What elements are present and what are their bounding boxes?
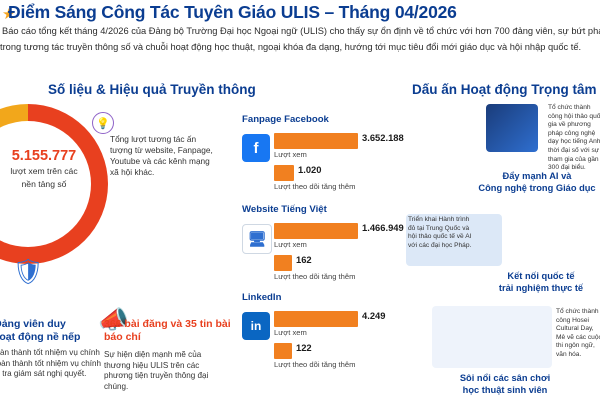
value-website-views: 1.466.949 (362, 222, 404, 233)
left-item-2-title: 366 bài đăng và 35 tin bài báo chí (104, 318, 234, 344)
right-card-2-text: Triển khai Hành trình đỏ tại Trung Quốc … (408, 216, 474, 250)
right-card-3-caption: Sôi nổi các sân chơi học thuật sinh viên (430, 372, 580, 396)
shield-icon: 🛡 (6, 250, 50, 294)
donut-caption-2: nền tảng số (0, 179, 96, 190)
donut-chart: 5.155.777 lượt xem trên các nền tảng số (0, 104, 108, 264)
right-card-2-caption: Kết nối quốc tế trải nghiệm thực tế (474, 270, 600, 294)
chart-block-website: Website Tiếng Việt 🖥 1.466.949 Lượt xem … (242, 204, 422, 282)
label-facebook-followers: Lượt theo dõi tăng thêm (274, 182, 355, 191)
bar-linkedin-views (274, 311, 358, 327)
donut-caption-1: lượt xem trên các (0, 166, 96, 177)
chart-title-website: Website Tiếng Việt (242, 204, 422, 215)
bar-facebook-followers (274, 165, 294, 181)
value-linkedin-followers: 122 (296, 342, 312, 353)
right-card-3-caption-line1: Sôi nổi các sân chơi (460, 373, 550, 383)
right-card-2-caption-line2: trải nghiệm thực tế (499, 283, 583, 293)
donut-center-text: 5.155.777 lượt xem trên các nền tảng số (0, 148, 96, 189)
bar-website-followers (274, 255, 292, 271)
donut-note: Tổng lượt tương tác ấn tượng từ website,… (110, 134, 214, 178)
value-facebook-views: 3.652.188 (362, 132, 404, 143)
value-facebook-followers: 1.020 (298, 164, 321, 175)
right-card-1-text: Tổ chức thành công hội thảo quốc gia về … (548, 104, 600, 173)
subtitle-line-2: trong tương tác truyền thông số và chuỗi… (0, 42, 600, 52)
bar-facebook-views (274, 133, 358, 149)
left-item-2-body: Sự hiện diện mạnh mẽ của thương hiệu ULI… (104, 350, 226, 392)
lightbulb-icon: 💡 (92, 112, 114, 134)
subtitle-line-1: Báo cáo tổng kết tháng 4/2026 của Đảng b… (2, 26, 600, 36)
left-item-1-title-line1: Đảng viên duy (0, 318, 66, 330)
chart-title-facebook: Fanpage Facebook (242, 114, 422, 125)
infographic-page: ★ Điểm Sáng Công Tác Tuyên Giáo ULIS – T… (0, 0, 600, 400)
right-card-1-caption-line2: Công nghệ trong Giáo dục (478, 183, 595, 193)
ai-brain-illustration (486, 104, 538, 152)
label-linkedin-followers: Lượt theo dõi tăng thêm (274, 360, 355, 369)
left-item-1-body: Đảng bộ hoàn thành tốt nhiệm vụ chính tr… (0, 348, 102, 380)
label-linkedin-views: Lượt xem (274, 328, 307, 337)
left-item-1-title: Đảng viên duy trì hoạt động nề nếp (0, 318, 100, 344)
label-facebook-views: Lượt xem (274, 150, 307, 159)
left-item-1-title-line2: trì hoạt động nề nếp (0, 331, 80, 343)
header: ★ Điểm Sáng Công Tác Tuyên Giáo ULIS – T… (0, 0, 600, 28)
donut-value: 5.155.777 (0, 148, 96, 164)
label-website-followers: Lượt theo dõi tăng thêm (274, 272, 355, 281)
section-title-right: Dấu ấn Hoạt động Trọng tâm (412, 82, 597, 97)
right-card-1-caption-line1: Đẩy mạnh AI và (503, 171, 572, 181)
bar-linkedin-followers (274, 343, 292, 359)
right-card-3-text: Tổ chức thành công Hosei Cultural Day, M… (556, 308, 600, 360)
page-title: Điểm Sáng Công Tác Tuyên Giáo ULIS – Thá… (8, 2, 600, 23)
bar-website-views (274, 223, 358, 239)
chart-title-linkedin: LinkedIn (242, 292, 422, 303)
right-card-1-caption: Đẩy mạnh AI và Công nghệ trong Giáo dục (462, 170, 600, 194)
value-website-followers: 162 (296, 254, 312, 265)
label-website-views: Lượt xem (274, 240, 307, 249)
chart-block-linkedin: LinkedIn in 4.249 Lượt xem 122 Lượt theo… (242, 292, 422, 370)
students-celebration-illustration (432, 306, 552, 368)
right-card-3-caption-line2: học thuật sinh viên (463, 385, 548, 395)
section-title-left: Số liệu & Hiệu quả Truyền thông (48, 82, 256, 97)
value-linkedin-views: 4.249 (362, 310, 385, 321)
right-card-2-caption-line1: Kết nối quốc tế (507, 271, 574, 281)
chart-block-facebook: Fanpage Facebook f 3.652.188 Lượt xem 1.… (242, 114, 422, 192)
